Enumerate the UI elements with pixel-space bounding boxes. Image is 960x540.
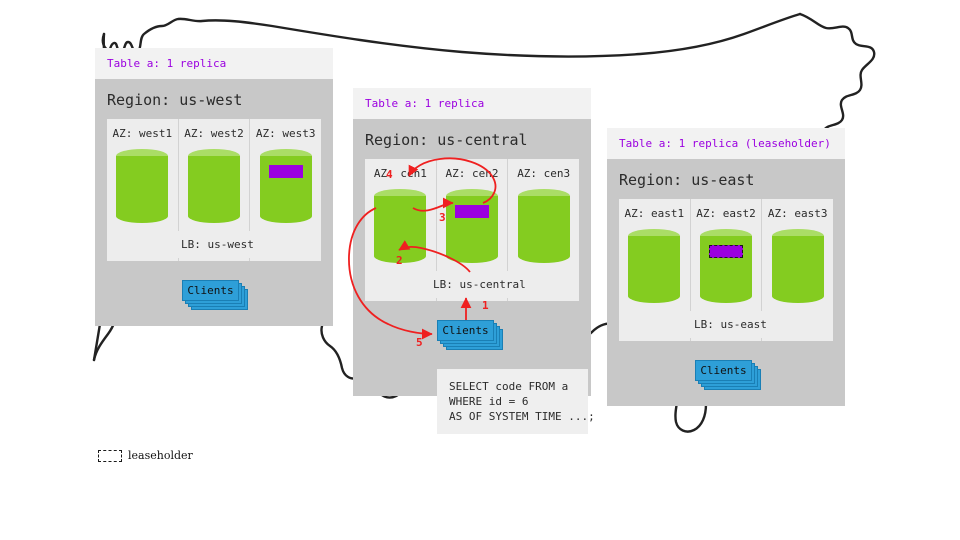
node-cylinder-cen1[interactable] (374, 189, 426, 263)
cylinder-bottom (518, 249, 570, 263)
node-cylinder-cen2[interactable] (446, 189, 498, 263)
load-balancer-us-central[interactable]: LB: us-central (417, 271, 533, 298)
cylinder-bottom (628, 289, 680, 303)
region-header-us-east: Table a: 1 replica (leaseholder) (607, 128, 845, 159)
clients-label-us-west[interactable]: Clients (182, 280, 239, 301)
cylinder-body (772, 236, 824, 296)
clients-us-east[interactable]: Clients (695, 360, 761, 390)
region-body-us-central: Region: us-central AZ: cen1 AZ: cen2 (353, 119, 591, 396)
az-label-west2: AZ: west2 (184, 127, 244, 140)
region-title-us-west: Region: us-west (95, 79, 333, 119)
cylinder-bottom (116, 209, 168, 223)
az-label-west3: AZ: west3 (256, 127, 316, 140)
region-panel-us-central: Table a: 1 replica Region: us-central AZ… (353, 88, 591, 396)
cylinder-bottom (772, 289, 824, 303)
load-balancer-us-west[interactable]: LB: us-west (165, 231, 269, 258)
flow-step-label-4: 4 (386, 168, 393, 181)
cylinder-bottom (700, 289, 752, 303)
clients-label-us-central[interactable]: Clients (437, 320, 494, 341)
clients-us-central[interactable]: Clients (437, 320, 503, 350)
node-cylinder-east1[interactable] (628, 229, 680, 303)
az-label-cen1: AZ: cen1 (374, 167, 427, 180)
region-panel-us-west: Table a: 1 replica Region: us-west AZ: w… (95, 48, 333, 326)
cylinder-bottom (260, 209, 312, 223)
sql-query-box: SELECT code FROM a WHERE id = 6 AS OF SY… (437, 369, 588, 434)
flow-step-label-1: 1 (482, 299, 489, 312)
region-panel-us-east: Table a: 1 replica (leaseholder) Region:… (607, 128, 845, 406)
az-label-east1: AZ: east1 (625, 207, 685, 220)
node-cylinder-east3[interactable] (772, 229, 824, 303)
range-replica-cen2[interactable] (455, 205, 489, 218)
region-title-us-central: Region: us-central (353, 119, 591, 159)
load-balancer-us-east[interactable]: LB: us-east (678, 311, 780, 338)
cylinder-body (188, 156, 240, 216)
cylinder-bottom (446, 249, 498, 263)
legend-label: leaseholder (128, 449, 193, 462)
flow-step-label-5: 5 (416, 336, 423, 349)
cylinder-body (518, 196, 570, 256)
cylinder-body (116, 156, 168, 216)
az-label-east3: AZ: east3 (768, 207, 828, 220)
az-label-west1: AZ: west1 (113, 127, 173, 140)
node-cylinder-west3[interactable] (260, 149, 312, 223)
clients-label-us-east[interactable]: Clients (695, 360, 752, 381)
region-header-us-central: Table a: 1 replica (353, 88, 591, 119)
az-label-east2: AZ: east2 (696, 207, 756, 220)
region-header-us-west: Table a: 1 replica (95, 48, 333, 79)
node-cylinder-west2[interactable] (188, 149, 240, 223)
leaseholder-swatch-icon (98, 450, 122, 462)
cylinder-body (628, 236, 680, 296)
legend-leaseholder: leaseholder (98, 449, 193, 462)
node-cylinder-east2[interactable] (700, 229, 752, 303)
node-cylinder-west1[interactable] (116, 149, 168, 223)
flow-step-label-2: 2 (396, 254, 403, 267)
range-replica-leaseholder-east2[interactable] (709, 245, 743, 258)
az-label-cen3: AZ: cen3 (517, 167, 570, 180)
az-label-cen2: AZ: cen2 (446, 167, 499, 180)
flow-step-label-3: 3 (439, 211, 446, 224)
clients-us-west[interactable]: Clients (182, 280, 248, 310)
region-title-us-east: Region: us-east (607, 159, 845, 199)
cylinder-body (374, 196, 426, 256)
node-cylinder-cen3[interactable] (518, 189, 570, 263)
cylinder-bottom (188, 209, 240, 223)
range-replica-west3[interactable] (269, 165, 303, 178)
